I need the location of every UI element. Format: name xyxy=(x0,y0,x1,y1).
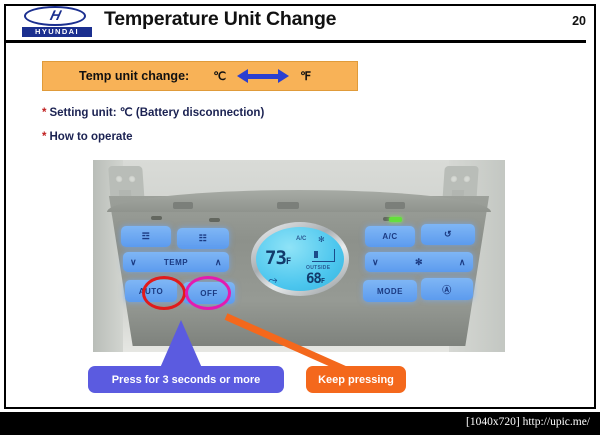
slide-header: H HYUNDAI Temperature Unit Change 20 xyxy=(0,0,600,42)
logo-h-letter: H xyxy=(41,9,68,22)
footer-bar: [1040x720] http://upic.me/ xyxy=(0,412,600,435)
panel-tab xyxy=(385,202,405,209)
auto-defog-button[interactable]: Ⓐ xyxy=(421,278,473,300)
lcd-ac-indicator: A/C xyxy=(296,236,306,242)
ac-label: A/C xyxy=(382,232,397,241)
lcd-display-bezel: A/C ✻ 73F ⤳ OUTSIDE 68F xyxy=(251,222,349,296)
panel-slot xyxy=(209,218,220,222)
panel-slot xyxy=(151,216,162,220)
slide-root: H HYUNDAI Temperature Unit Change 20 Tem… xyxy=(0,0,600,435)
rear-defrost-icon: ☷ xyxy=(199,233,208,244)
keep-pressing-callout: Keep pressing xyxy=(306,366,406,393)
hyundai-logo: H HYUNDAI xyxy=(12,6,98,38)
temp-unit-change-banner: Temp unit change: ℃ ℉ xyxy=(42,61,358,91)
image-dimensions: [1040x720] xyxy=(466,416,520,428)
bullet-setting-unit: *Setting unit: ℃ (Battery disconnection) xyxy=(42,105,264,119)
temp-down-icon[interactable]: ∨ xyxy=(130,257,137,268)
off-highlight-circle xyxy=(185,276,231,310)
panel-top-trim xyxy=(107,190,491,212)
press-3-seconds-text: Press for 3 seconds or more xyxy=(112,374,261,386)
lcd-display: A/C ✻ 73F ⤳ OUTSIDE 68F xyxy=(256,227,344,291)
front-defrost-icon: ☲ xyxy=(142,231,151,242)
lcd-mode-icon: ⤳ xyxy=(267,272,279,288)
status-led-indicator xyxy=(389,217,402,222)
fan-up-icon[interactable]: ∧ xyxy=(459,257,466,268)
double-arrow-icon xyxy=(237,69,289,83)
mode-button[interactable]: MODE xyxy=(363,280,417,302)
lcd-fan-icon: ✻ xyxy=(318,235,325,244)
rear-defrost-button[interactable]: ☷ xyxy=(177,228,229,249)
ac-button[interactable]: A/C xyxy=(365,226,415,247)
press-3-seconds-callout: Press for 3 seconds or more xyxy=(88,366,284,393)
panel-tab xyxy=(277,202,299,209)
footer-text: [1040x720] http://upic.me/ xyxy=(466,416,590,428)
bullet-marker: * xyxy=(42,107,46,119)
bullet-how-to-operate: *How to operate xyxy=(42,131,133,143)
recirculation-button[interactable]: ↺ xyxy=(421,224,475,245)
front-defrost-button[interactable]: ☲ xyxy=(121,226,171,247)
recirculation-icon: ↺ xyxy=(444,229,452,240)
auto-highlight-circle xyxy=(142,276,186,310)
panel-tab xyxy=(173,202,193,209)
bullet-text: Setting unit: ℃ (Battery disconnection) xyxy=(49,107,264,119)
page-title: Temperature Unit Change xyxy=(104,8,336,31)
fahrenheit-label: ℉ xyxy=(300,69,311,83)
fan-icon: ✻ xyxy=(415,257,423,268)
logo-wordmark: HYUNDAI xyxy=(22,27,92,37)
temp-up-icon[interactable]: ∧ xyxy=(215,257,222,268)
fan-down-icon[interactable]: ∨ xyxy=(372,257,379,268)
bullet-marker: * xyxy=(42,131,46,143)
lcd-set-temperature: 73F xyxy=(265,247,290,269)
lcd-outside-temperature: 68F xyxy=(306,271,324,287)
lcd-airflow-bar-icon xyxy=(314,251,318,258)
temp-rocker-button[interactable]: ∨ TEMP ∧ xyxy=(123,252,229,272)
header-divider xyxy=(6,40,586,43)
banner-label: Temp unit change: xyxy=(79,69,189,83)
source-url: http://upic.me/ xyxy=(523,416,590,428)
press-3-seconds-pointer xyxy=(160,320,202,368)
celsius-label: ℃ xyxy=(213,69,226,83)
page-number: 20 xyxy=(572,14,586,28)
fan-rocker-button[interactable]: ∨ ✻ ∧ xyxy=(365,252,473,272)
keep-pressing-text: Keep pressing xyxy=(318,374,394,386)
mode-label: MODE xyxy=(377,287,403,296)
keep-pressing-pointer xyxy=(226,313,366,373)
bullet-text: How to operate xyxy=(49,131,132,143)
auto-defog-icon: Ⓐ xyxy=(442,283,452,296)
temp-label: TEMP xyxy=(164,258,188,267)
